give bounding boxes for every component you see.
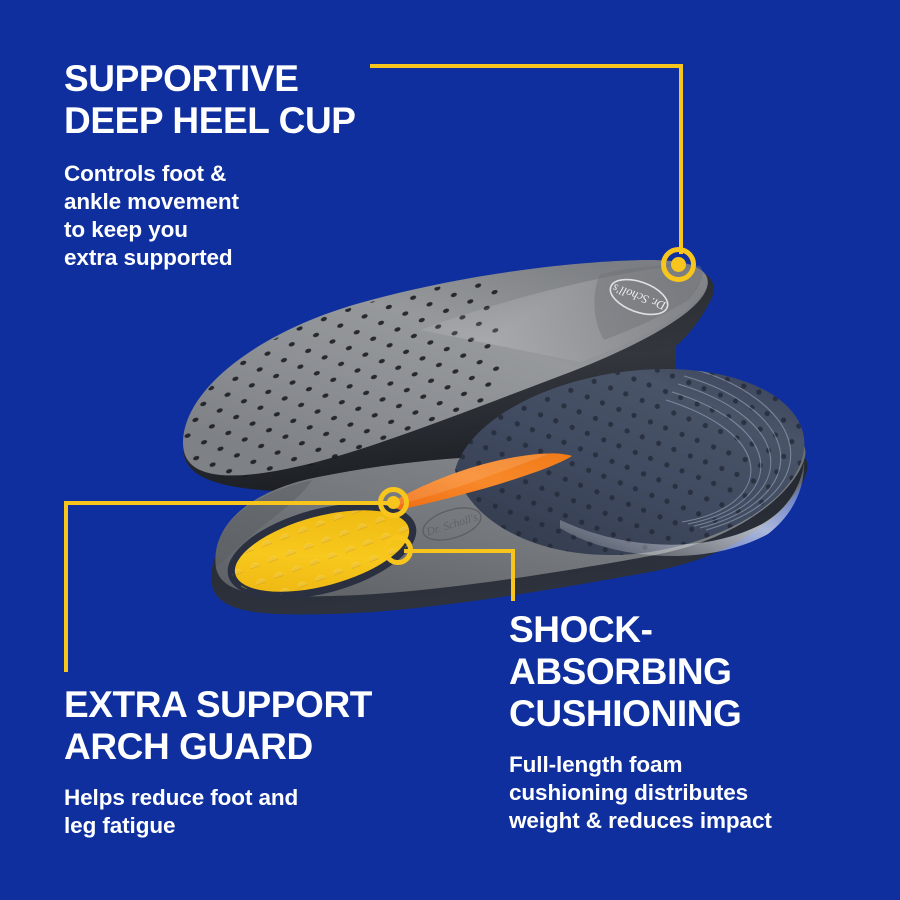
leader-line-arch-horizontal xyxy=(64,501,388,505)
callout-headline: SUPPORTIVE DEEP HEEL CUP xyxy=(64,58,394,142)
callout-headline: EXTRA SUPPORT ARCH GUARD xyxy=(64,684,464,768)
leader-line-shock-vertical xyxy=(511,549,515,601)
leader-line-heel-horizontal xyxy=(370,64,683,68)
target-marker-heel-cup xyxy=(661,247,696,282)
leader-line-heel-vertical xyxy=(679,64,683,254)
callout-arch-guard: EXTRA SUPPORT ARCH GUARD Helps reduce fo… xyxy=(64,684,464,840)
callout-body: Full-length foam cushioning distributes … xyxy=(509,751,849,835)
callout-shock-absorbing: SHOCK- ABSORBING CUSHIONING Full-length … xyxy=(509,609,849,835)
target-marker-arch-strip xyxy=(378,487,409,518)
callout-deep-heel-cup: SUPPORTIVE DEEP HEEL CUP Controls foot &… xyxy=(64,58,394,272)
leader-line-shock-horizontal xyxy=(404,549,515,553)
target-marker-dot xyxy=(671,257,686,272)
callout-headline: SHOCK- ABSORBING CUSHIONING xyxy=(509,609,849,735)
target-marker-arch-guard xyxy=(383,535,413,565)
target-marker-dot xyxy=(387,496,400,509)
target-marker-dot xyxy=(392,544,404,556)
leader-line-arch-vertical xyxy=(64,501,68,672)
callout-body: Controls foot & ankle movement to keep y… xyxy=(64,160,394,272)
infographic-canvas: Dr. Scholl's xyxy=(0,0,900,900)
callout-body: Helps reduce foot and leg fatigue xyxy=(64,784,464,840)
